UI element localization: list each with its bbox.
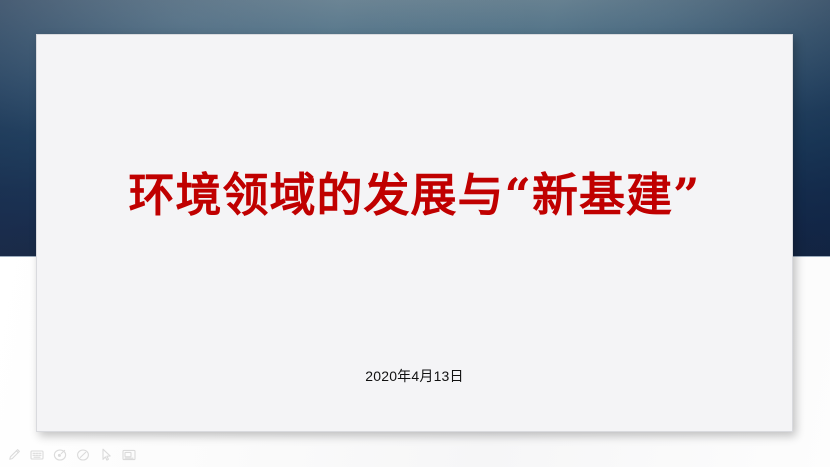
eraser-icon[interactable] xyxy=(73,445,93,464)
slide-title: 环境领域的发展与“新基建” xyxy=(37,169,792,222)
slide-menu-icon[interactable] xyxy=(119,445,139,464)
laser-pointer-icon[interactable] xyxy=(50,445,70,464)
slide-canvas[interactable]: 环境领域的发展与“新基建” 2020年4月13日 xyxy=(36,34,793,432)
presenter-toolbar[interactable] xyxy=(4,445,139,464)
ink-display-icon[interactable] xyxy=(27,445,47,464)
pen-icon[interactable] xyxy=(4,445,24,464)
slideshow-stage: 环境领域的发展与“新基建” 2020年4月13日 xyxy=(0,0,830,467)
cursor-arrow-icon[interactable] xyxy=(96,445,116,464)
slide-date: 2020年4月13日 xyxy=(37,366,792,386)
